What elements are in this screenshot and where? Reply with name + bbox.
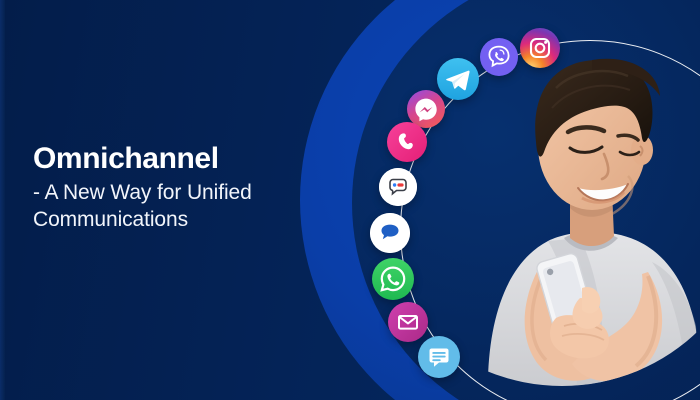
live-chat-icon[interactable] <box>418 336 460 378</box>
sms-bubble-icon[interactable] <box>370 213 410 253</box>
viber-icon[interactable] <box>480 38 518 76</box>
instagram-icon[interactable] <box>520 28 560 68</box>
whatsapp-icon[interactable] <box>372 258 414 300</box>
phone-call-icon[interactable] <box>387 122 427 162</box>
omnichannel-banner: Omnichannel - A New Way for Unified Comm… <box>0 0 700 400</box>
rcs-chat-icon[interactable] <box>379 168 417 206</box>
channel-icon-ring <box>0 0 700 400</box>
